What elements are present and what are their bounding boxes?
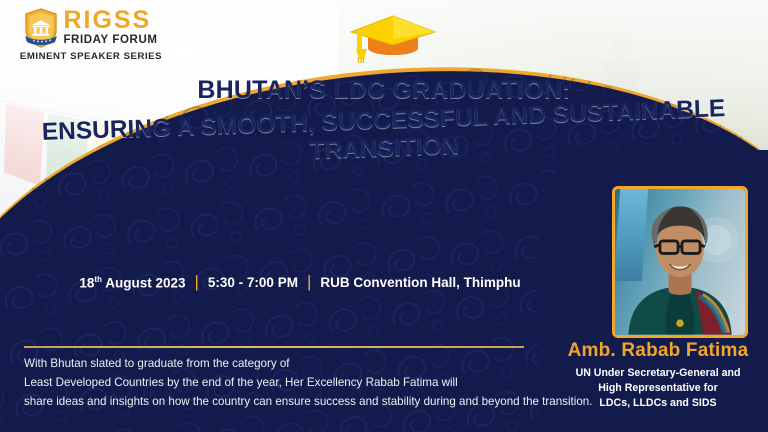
speaker-role: UN Under Secretary-General and High Repr…	[548, 366, 768, 411]
logo-rigss-text: RIGSS	[63, 9, 151, 33]
event-venue: RUB Convention Hall, Thimphu	[320, 275, 520, 290]
graduation-cap-icon	[341, 12, 437, 64]
shield-logo-icon	[24, 8, 58, 48]
event-time: 5:30 - 7:00 PM	[208, 275, 298, 290]
portrait-figure	[615, 189, 745, 335]
speaker-role-line-3: LDCs, LLDCs and SIDS	[548, 396, 768, 411]
detail-separator-2: |	[307, 273, 311, 290]
logo-series-text: EMINENT SPEAKER SERIES	[20, 51, 162, 62]
event-date: 18th August 2023	[79, 275, 185, 291]
detail-separator-1: |	[194, 273, 198, 290]
rigss-logo: RIGSS FRIDAY FORUM EMINENT SPEAKER SERIE…	[16, 8, 166, 70]
speaker-name: Amb. Rabab Fatima	[548, 340, 768, 362]
speaker-portrait	[612, 186, 748, 338]
event-description: With Bhutan slated to graduate from the …	[24, 354, 536, 411]
speaker-role-line-1: UN Under Secretary-General and	[548, 366, 768, 381]
description-line-3: share ideas and insights on how the coun…	[24, 392, 536, 411]
description-line-1: With Bhutan slated to graduate from the …	[24, 354, 536, 373]
logo-friday-forum-text: FRIDAY FORUM	[63, 35, 157, 47]
description-line-2: Least Developed Countries by the end of …	[24, 373, 536, 392]
speaker-role-line-2: High Representative for	[548, 381, 768, 396]
blurb-divider-rule	[24, 346, 524, 348]
event-details-bar: 18th August 2023 | 5:30 - 7:00 PM | RUB …	[0, 274, 600, 291]
event-poster: RIGSS FRIDAY FORUM EMINENT SPEAKER SERIE…	[0, 0, 768, 432]
